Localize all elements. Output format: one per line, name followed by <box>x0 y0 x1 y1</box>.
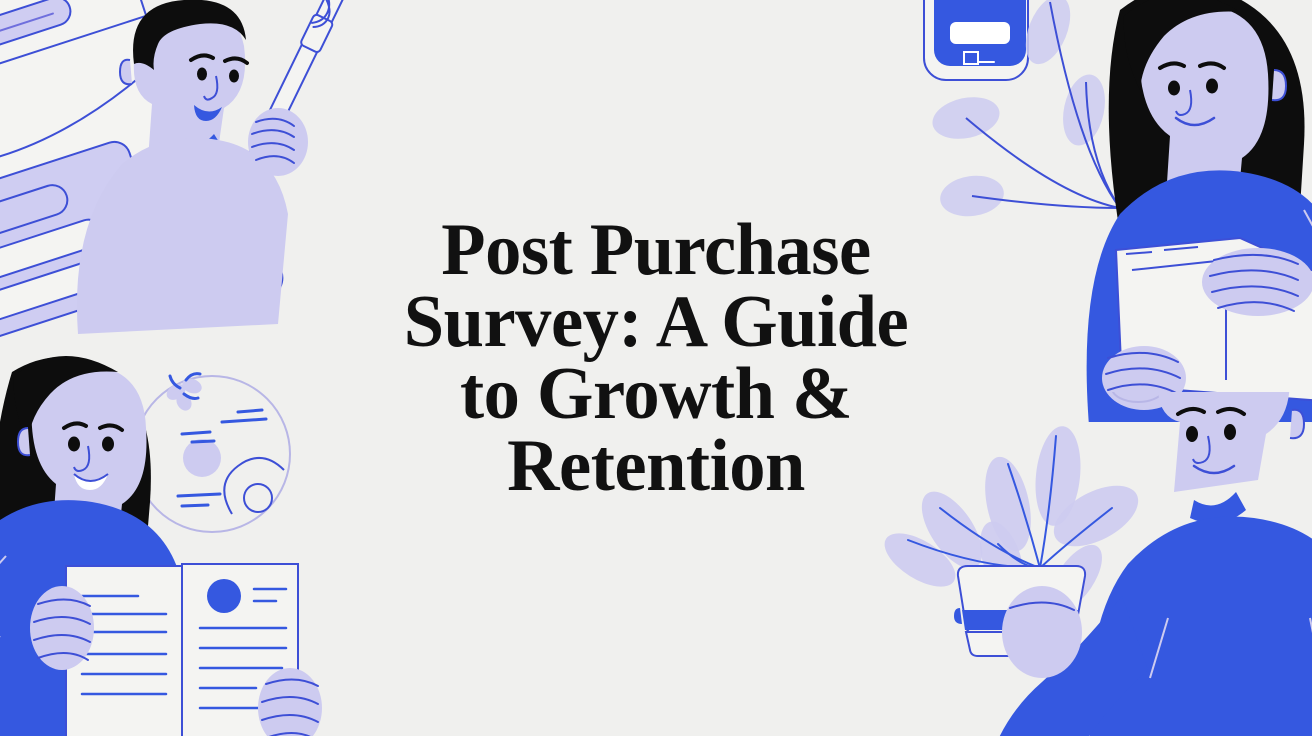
hand-right <box>258 668 322 736</box>
phone-mockup <box>924 0 1028 80</box>
page-title: Post Purchase Survey: A Guide to Growth … <box>0 214 1312 502</box>
open-brochure <box>30 564 322 736</box>
title-line-3: to Growth & <box>13 358 1299 430</box>
brochure-right-lines <box>200 589 286 708</box>
leaf-branch <box>929 0 1120 220</box>
phone-input-field <box>950 22 1010 44</box>
hand-left <box>30 586 94 670</box>
brochure-left-lines <box>82 596 166 694</box>
hand-holding-pot <box>1002 586 1082 678</box>
tilted-ui-card <box>0 0 187 244</box>
title-line-1: Post Purchase <box>13 214 1299 286</box>
title-line-2: Survey: A Guide <box>13 286 1299 358</box>
title-line-4: Retention <box>13 430 1299 502</box>
hero-banner: Post Purchase Survey: A Guide to Growth … <box>0 0 1312 736</box>
brochure-avatar-dot <box>207 579 241 613</box>
